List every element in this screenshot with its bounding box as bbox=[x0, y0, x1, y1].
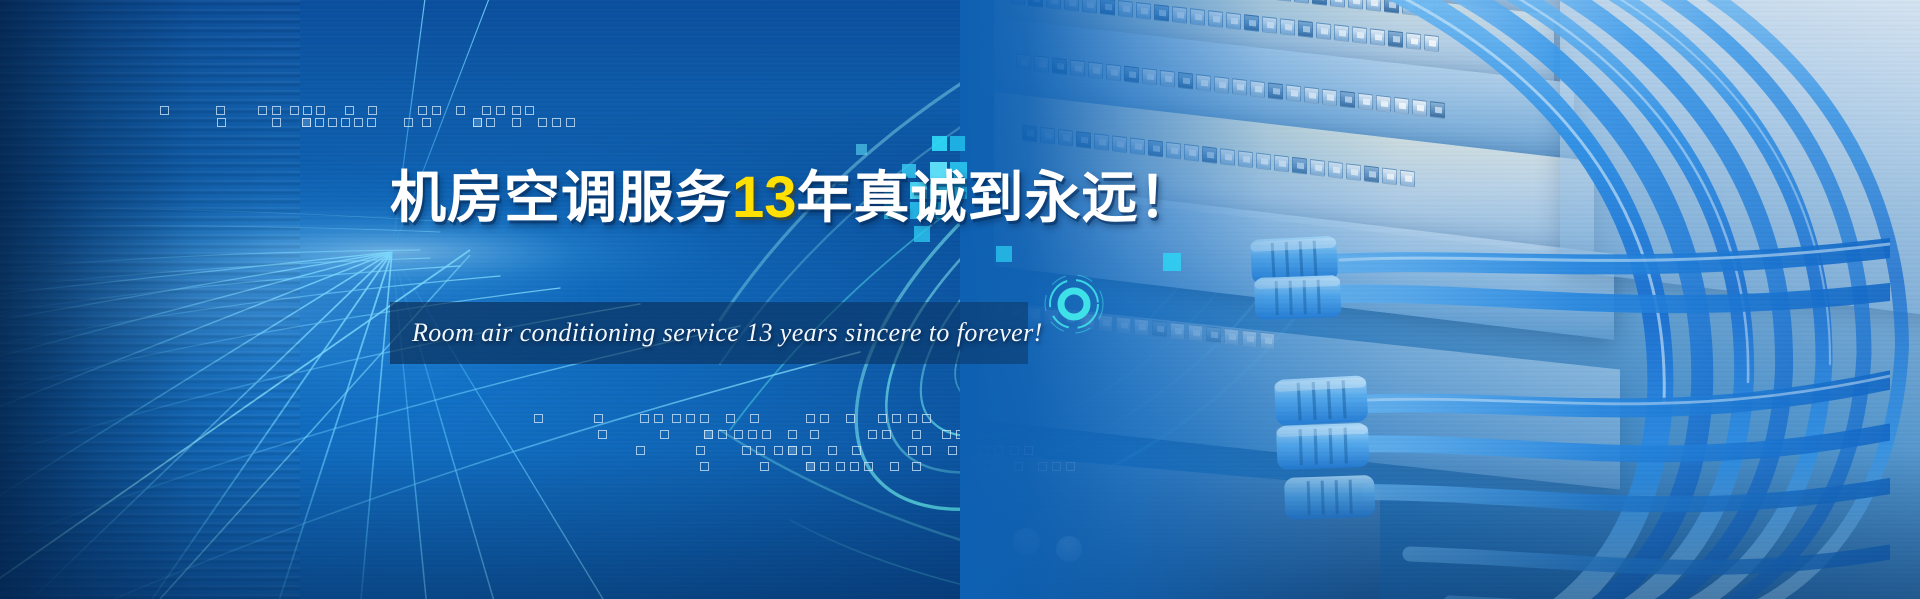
headline-part-2: 年真诚到永远！ bbox=[797, 166, 1196, 229]
headline-part-1: 机房空调服务 bbox=[390, 166, 732, 229]
glow-ring-icon bbox=[1042, 272, 1106, 336]
headline-years-number: 13 bbox=[732, 165, 797, 230]
banner-headline: 机房空调服务13年真诚到永远！ bbox=[390, 168, 1196, 228]
pixel-decor-upper bbox=[160, 104, 580, 138]
hero-banner: 机房空调服务13年真诚到永远！ Room air conditioning se… bbox=[0, 0, 1920, 599]
banner-subtitle: Room air conditioning service 13 years s… bbox=[412, 302, 1032, 364]
cyan-accent-square bbox=[1163, 253, 1181, 271]
